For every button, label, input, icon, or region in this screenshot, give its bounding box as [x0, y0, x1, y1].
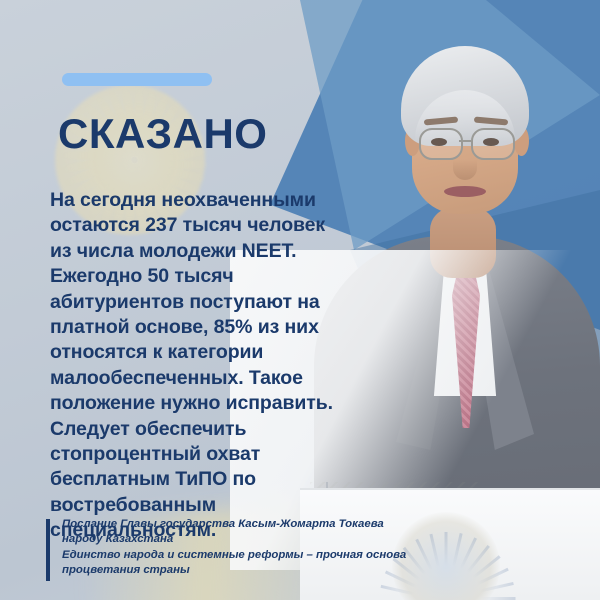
quote-body: На сегодня неохваченнымиостаются 237 тыс…	[50, 188, 360, 544]
footer-line: народу Казахстана	[62, 532, 486, 547]
footer-line: процветания страны	[62, 563, 486, 578]
quote-line: востребованным	[50, 493, 360, 518]
quote-line: абитуриентов поступают на	[50, 290, 360, 315]
page-title: СКАЗАНО	[58, 113, 267, 155]
quote-line: из числа молодежи NEET.	[50, 239, 360, 264]
quote-line: стопроцентный охват	[50, 442, 360, 467]
accent-bar	[62, 73, 212, 86]
quote-line: Следует обеспечить	[50, 417, 360, 442]
quote-line: малообеспеченных. Такое	[50, 366, 360, 391]
quote-line: платной основе, 85% из них	[50, 315, 360, 340]
quote-line: положение нужно исправить.	[50, 391, 360, 416]
footer-line: Послание Главы государства Касым-Жомарта…	[62, 517, 486, 532]
quote-line: Ежегодно 50 тысяч	[50, 264, 360, 289]
quote-line: На сегодня неохваченными	[50, 188, 360, 213]
footer-text: Послание Главы государства Касым-Жомарта…	[62, 517, 486, 579]
quote-line: бесплатным ТиПО по	[50, 467, 360, 492]
footer-line: Единство народа и системные реформы – пр…	[62, 548, 486, 563]
footer-attribution: Послание Главы государства Касым-Жомарта…	[46, 517, 486, 579]
quote-line: относятся к категории	[50, 340, 360, 365]
footer-accent-bar	[46, 519, 50, 581]
quote-line: остаются 237 тысяч человек	[50, 213, 360, 238]
quote-card: СКАЗАНО На сегодня неохваченнымиостаются…	[0, 0, 600, 600]
card-content: СКАЗАНО На сегодня неохваченнымиостаются…	[0, 0, 600, 600]
